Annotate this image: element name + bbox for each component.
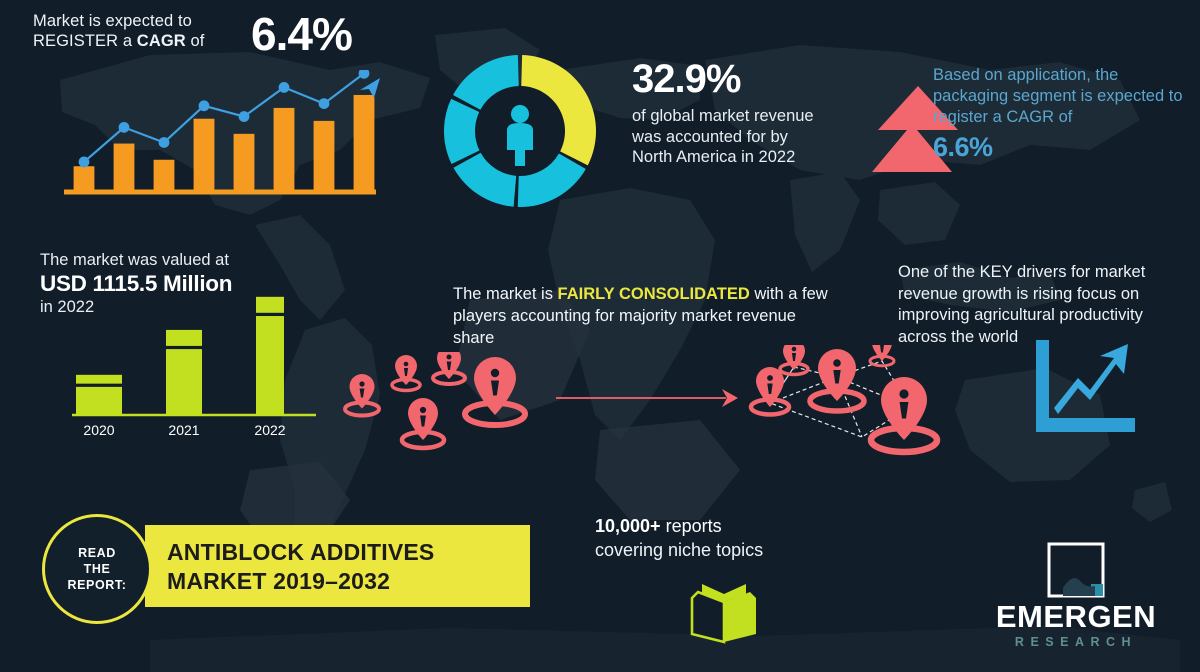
- year-bar-divider: [166, 346, 202, 349]
- report-title-line1: ANTIBLOCK ADDITIVES: [167, 539, 434, 565]
- report-circle-line2: THE: [84, 562, 111, 576]
- emergen-research-logo: EMERGEN RESEARCH: [963, 540, 1189, 652]
- cagr-line2-bold: CAGR: [137, 32, 186, 50]
- map-pins-scattered: [338, 352, 548, 467]
- consolidation-callout: The market is FAIRLY CONSOLIDATED with a…: [453, 283, 828, 349]
- report-circle-line3: REPORT:: [67, 578, 126, 592]
- report-title-line2: MARKET 2019–2032: [167, 568, 390, 594]
- reports-count-line1: 10,000+ reports: [595, 514, 825, 538]
- donut-segment: [454, 153, 517, 207]
- year-tick-label: 2022: [254, 422, 285, 438]
- logo-subtitle: RESEARCH: [963, 635, 1189, 649]
- year-tick-label: 2021: [168, 422, 199, 438]
- reports-count-callout: 10,000+ reports covering niche topics: [595, 514, 825, 562]
- chart-marker: [119, 122, 130, 133]
- report-circle-line1: READ: [78, 546, 116, 560]
- cagr-value: 6.4%: [251, 11, 352, 57]
- chart-bars: [74, 95, 375, 190]
- north-america-callout: 32.9% of global market revenue was accou…: [632, 56, 817, 168]
- read-the-report-label: READ THE REPORT:: [67, 545, 126, 593]
- infographic-canvas: Market is expected to REGISTER a CAGR of…: [0, 0, 1200, 672]
- read-the-report-button[interactable]: READ THE REPORT:: [42, 514, 152, 624]
- year-bar: [76, 375, 122, 415]
- donut-segment: [444, 99, 479, 164]
- map-pins-network: [742, 345, 947, 475]
- year-bar-divider: [256, 313, 284, 316]
- chart-marker: [279, 82, 290, 93]
- chart-bar: [154, 160, 175, 190]
- chart-bar: [354, 95, 375, 190]
- person-icon: [507, 105, 533, 166]
- chart-marker: [239, 111, 250, 122]
- cagr-callout: Market is expected to REGISTER a CAGR of…: [33, 7, 363, 51]
- consolidation-text: The market is FAIRLY CONSOLIDATED with a…: [453, 283, 828, 349]
- north-america-value: 32.9%: [632, 56, 817, 102]
- cagr-line2-pre: REGISTER a: [33, 32, 137, 50]
- key-driver-callout: One of the KEY drivers for market revenu…: [898, 262, 1188, 348]
- chart-marker: [319, 98, 330, 109]
- chart-bar: [114, 144, 135, 190]
- cagr-line2-post: of: [186, 32, 205, 50]
- square-outline-mark: [963, 540, 1189, 600]
- chart-marker: [199, 100, 210, 111]
- key-driver-text: One of the KEY drivers for market revenu…: [898, 262, 1188, 348]
- chart-marker: [79, 157, 90, 168]
- chart-marker: [159, 137, 170, 148]
- chart-bar: [194, 119, 215, 190]
- year-bar: [166, 330, 202, 415]
- year-chart-bars: [76, 297, 284, 415]
- packaging-callout: Based on application, the packaging segm…: [933, 65, 1188, 163]
- report-title: ANTIBLOCK ADDITIVES MARKET 2019–2032: [167, 538, 434, 596]
- reports-count-line2: covering niche topics: [595, 538, 825, 562]
- donut-segment: [518, 154, 586, 207]
- top-growth-chart: [60, 70, 380, 200]
- regional-revenue-donut: [441, 52, 599, 210]
- logo-name: EMERGEN: [963, 600, 1189, 634]
- year-tick-label: 2020: [83, 422, 114, 438]
- cagr-line1: Market is expected to: [33, 12, 192, 30]
- chart-bar: [274, 108, 295, 190]
- consolidation-highlight: FAIRLY CONSOLIDATED: [558, 285, 750, 303]
- year-chart-tick-labels: 202020212022: [83, 422, 285, 438]
- north-america-description: of global market revenue was accounted f…: [632, 106, 817, 168]
- report-title-bar[interactable]: ANTIBLOCK ADDITIVES MARKET 2019–2032: [145, 525, 530, 607]
- chart-bar: [74, 166, 95, 190]
- packaging-description: Based on application, the packaging segm…: [933, 65, 1188, 128]
- packaging-value: 6.6%: [933, 132, 1188, 163]
- growth-chart-icon: [1032, 338, 1140, 438]
- consolidation-pre: The market is: [453, 285, 558, 303]
- transition-arrow-icon: [556, 386, 738, 410]
- chart-bar: [314, 121, 335, 190]
- reports-count-suffix: reports: [661, 516, 722, 536]
- year-bar-divider: [76, 384, 122, 387]
- chart-bar: [234, 134, 255, 190]
- market-value-by-year-chart: 202020212022: [58, 265, 328, 445]
- donut-segment: [453, 55, 519, 110]
- reports-count-value: 10,000+: [595, 516, 661, 536]
- cagr-description: Market is expected to REGISTER a CAGR of: [33, 7, 233, 51]
- open-book-icon: [688, 578, 760, 644]
